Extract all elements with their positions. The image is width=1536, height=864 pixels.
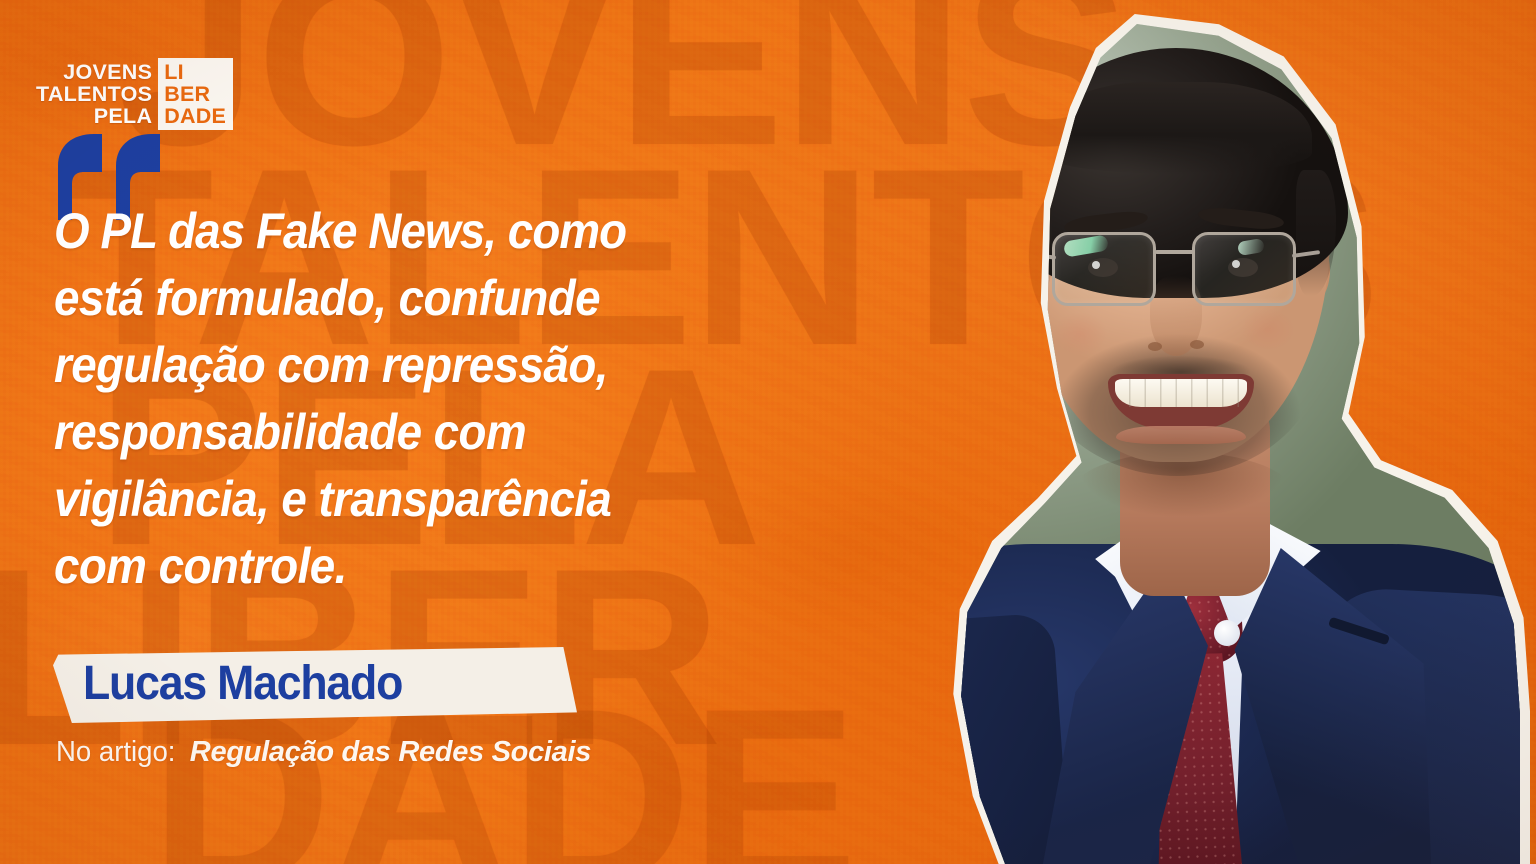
nostril-left <box>1148 342 1162 351</box>
quote-lead: O PL das Fake News, como <box>54 203 626 259</box>
quote-line: vigilância, e transparência <box>54 466 749 533</box>
brand-logo-box-line-1: LI <box>164 61 184 83</box>
eyeglass-bridge <box>1155 250 1195 254</box>
brand-logo: JOVENS TALENTOS PELA LI BER DADE <box>36 58 233 130</box>
article-prefix: No artigo: <box>56 734 175 770</box>
teeth <box>1115 379 1247 407</box>
suit-shoulder-left <box>892 612 1071 864</box>
cheek-left <box>1052 312 1108 356</box>
quote-line: está formulado, confunde <box>54 265 749 332</box>
lower-lip <box>1116 426 1246 444</box>
author-name: Lucas Machado <box>83 660 402 708</box>
brand-logo-box-line-3: DADE <box>164 105 226 127</box>
quote-text: O PL das Fake News, como está formulado,… <box>54 198 814 600</box>
author-name-badge: Lucas Machado <box>53 647 577 723</box>
cheek-right <box>1240 308 1296 352</box>
sideburn-right <box>1296 170 1336 296</box>
portrait-photo <box>892 24 1520 864</box>
brand-logo-line-3: PELA <box>94 105 153 127</box>
quote-card: JOVENS TALENTOS PELA LIBER DADE <box>0 0 1536 864</box>
article-reference: No artigo: Regulação das Redes Sociais <box>56 734 591 770</box>
article-title: Regulação das Redes Sociais <box>190 736 591 768</box>
brand-logo-box: LI BER DADE <box>158 58 233 130</box>
nostril-right <box>1190 340 1204 349</box>
quote-line: responsabilidade com <box>54 399 749 466</box>
quote-line: O PL das Fake News, como <box>54 198 749 265</box>
collar-button <box>1214 620 1240 646</box>
brand-logo-box-line-2: BER <box>164 83 210 105</box>
brand-logo-line-1: JOVENS <box>63 61 152 83</box>
portrait-container <box>804 0 1536 864</box>
quote-line: regulação com repressão, <box>54 332 749 399</box>
brand-logo-words: JOVENS TALENTOS PELA <box>36 58 158 130</box>
brand-logo-line-2: TALENTOS <box>36 83 152 105</box>
quote-line: com controle. <box>54 533 749 600</box>
